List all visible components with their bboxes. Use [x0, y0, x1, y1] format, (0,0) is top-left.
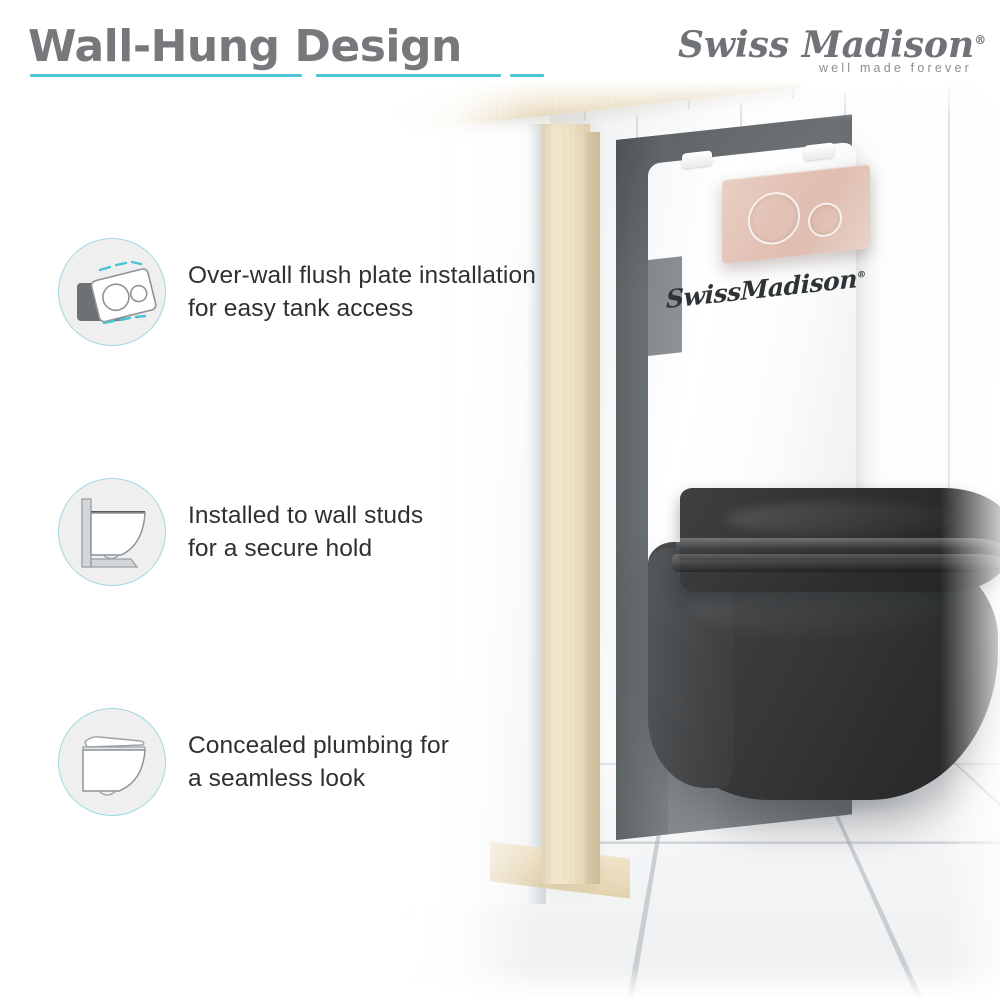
flush-plate: [722, 164, 870, 264]
feature-line-1: Concealed plumbing for: [188, 729, 449, 762]
feature-line-2: for easy tank access: [188, 292, 536, 325]
flush-button-half: [808, 201, 842, 239]
concealed-plumbing-icon-svg: [59, 709, 167, 817]
title-underline-segment-3: [510, 74, 544, 77]
feature-text-wall-studs: Installed to wall studs for a secure hol…: [188, 499, 423, 565]
flush-plate-install-icon-svg: [59, 239, 167, 347]
wall-stud-mount-icon: [58, 478, 166, 586]
brand-registered-mark: ®: [974, 33, 986, 47]
toilet-lid-highlight: [726, 502, 956, 536]
tank-brand-registered-mark: ®: [857, 270, 866, 281]
photo-fade-right: [940, 80, 1000, 1000]
feature-list: Over-wall flush plate installation for e…: [0, 0, 560, 1000]
flush-plate-install-icon: [58, 238, 166, 346]
page-title: Wall-Hung Design: [28, 22, 462, 72]
wood-stud-vertical-side: [586, 132, 600, 884]
feature-line-2: a seamless look: [188, 762, 449, 795]
wall-stud-mount-icon-svg: [59, 479, 167, 587]
title-underline-segment-1: [30, 74, 302, 77]
concealed-plumbing-icon: [58, 708, 166, 816]
flush-button-full: [748, 190, 800, 248]
header: Wall-Hung Design Swiss Madison® well mad…: [0, 0, 1000, 96]
feature-item-flush-plate: Over-wall flush plate installation for e…: [58, 238, 536, 346]
title-underline-segment-2: [316, 74, 501, 77]
feature-item-concealed-plumbing: Concealed plumbing for a seamless look: [58, 708, 449, 816]
brand-logo: Swiss Madison® well made forever: [678, 20, 978, 75]
feature-line-1: Installed to wall studs: [188, 499, 423, 532]
brand-name: Swiss Madison®: [678, 20, 978, 65]
feature-text-flush-plate: Over-wall flush plate installation for e…: [188, 259, 536, 325]
title-underline: [30, 74, 550, 78]
brand-name-text: Swiss Madison: [678, 24, 974, 66]
feature-text-concealed-plumbing: Concealed plumbing for a seamless look: [188, 729, 449, 795]
feature-line-1: Over-wall flush plate installation: [188, 259, 536, 292]
page-title-wrap: Wall-Hung Design: [28, 22, 462, 72]
feature-line-2: for a secure hold: [188, 532, 423, 565]
feature-item-wall-studs: Installed to wall studs for a secure hol…: [58, 478, 423, 586]
infographic-canvas: SwissMadison®: [0, 0, 1000, 1000]
